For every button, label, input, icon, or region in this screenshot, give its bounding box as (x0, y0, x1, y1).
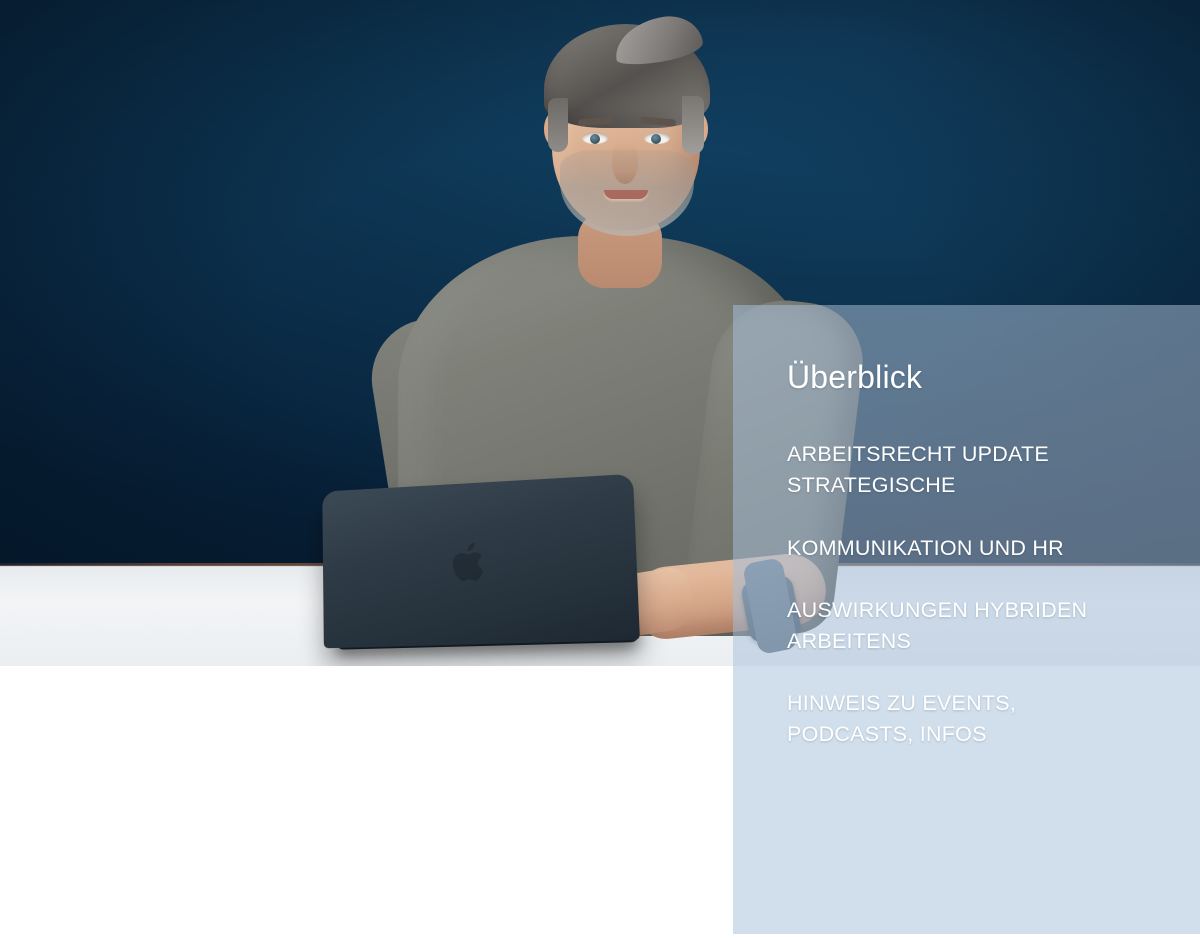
overview-panel-content: Überblick ARBEITSRECHT UPDATE STRATEGISC… (733, 305, 1200, 934)
list-item: KOMMUNIKATION UND HR (787, 533, 1139, 564)
left-sideburn (548, 98, 568, 152)
overview-list: ARBEITSRECHT UPDATE STRATEGISCHE KOMMUNI… (787, 439, 1200, 750)
presentation-slide: Überblick ARBEITSRECHT UPDATE STRATEGISC… (0, 0, 1200, 938)
right-iris (651, 134, 661, 144)
right-sideburn (682, 96, 704, 154)
overview-panel: Überblick ARBEITSRECHT UPDATE STRATEGISC… (733, 305, 1200, 934)
nose (612, 142, 638, 184)
page-title: Überblick (787, 360, 1200, 395)
list-item: AUSWIRKUNGEN HYBRIDEN ARBEITENS (787, 595, 1139, 657)
list-item: ARBEITSRECHT UPDATE STRATEGISCHE (787, 439, 1139, 501)
mouth (604, 190, 648, 199)
left-iris (590, 134, 600, 144)
list-item: HINWEIS ZU EVENTS, PODCASTS, INFOS (787, 688, 1139, 750)
apple-logo-icon (451, 539, 491, 584)
